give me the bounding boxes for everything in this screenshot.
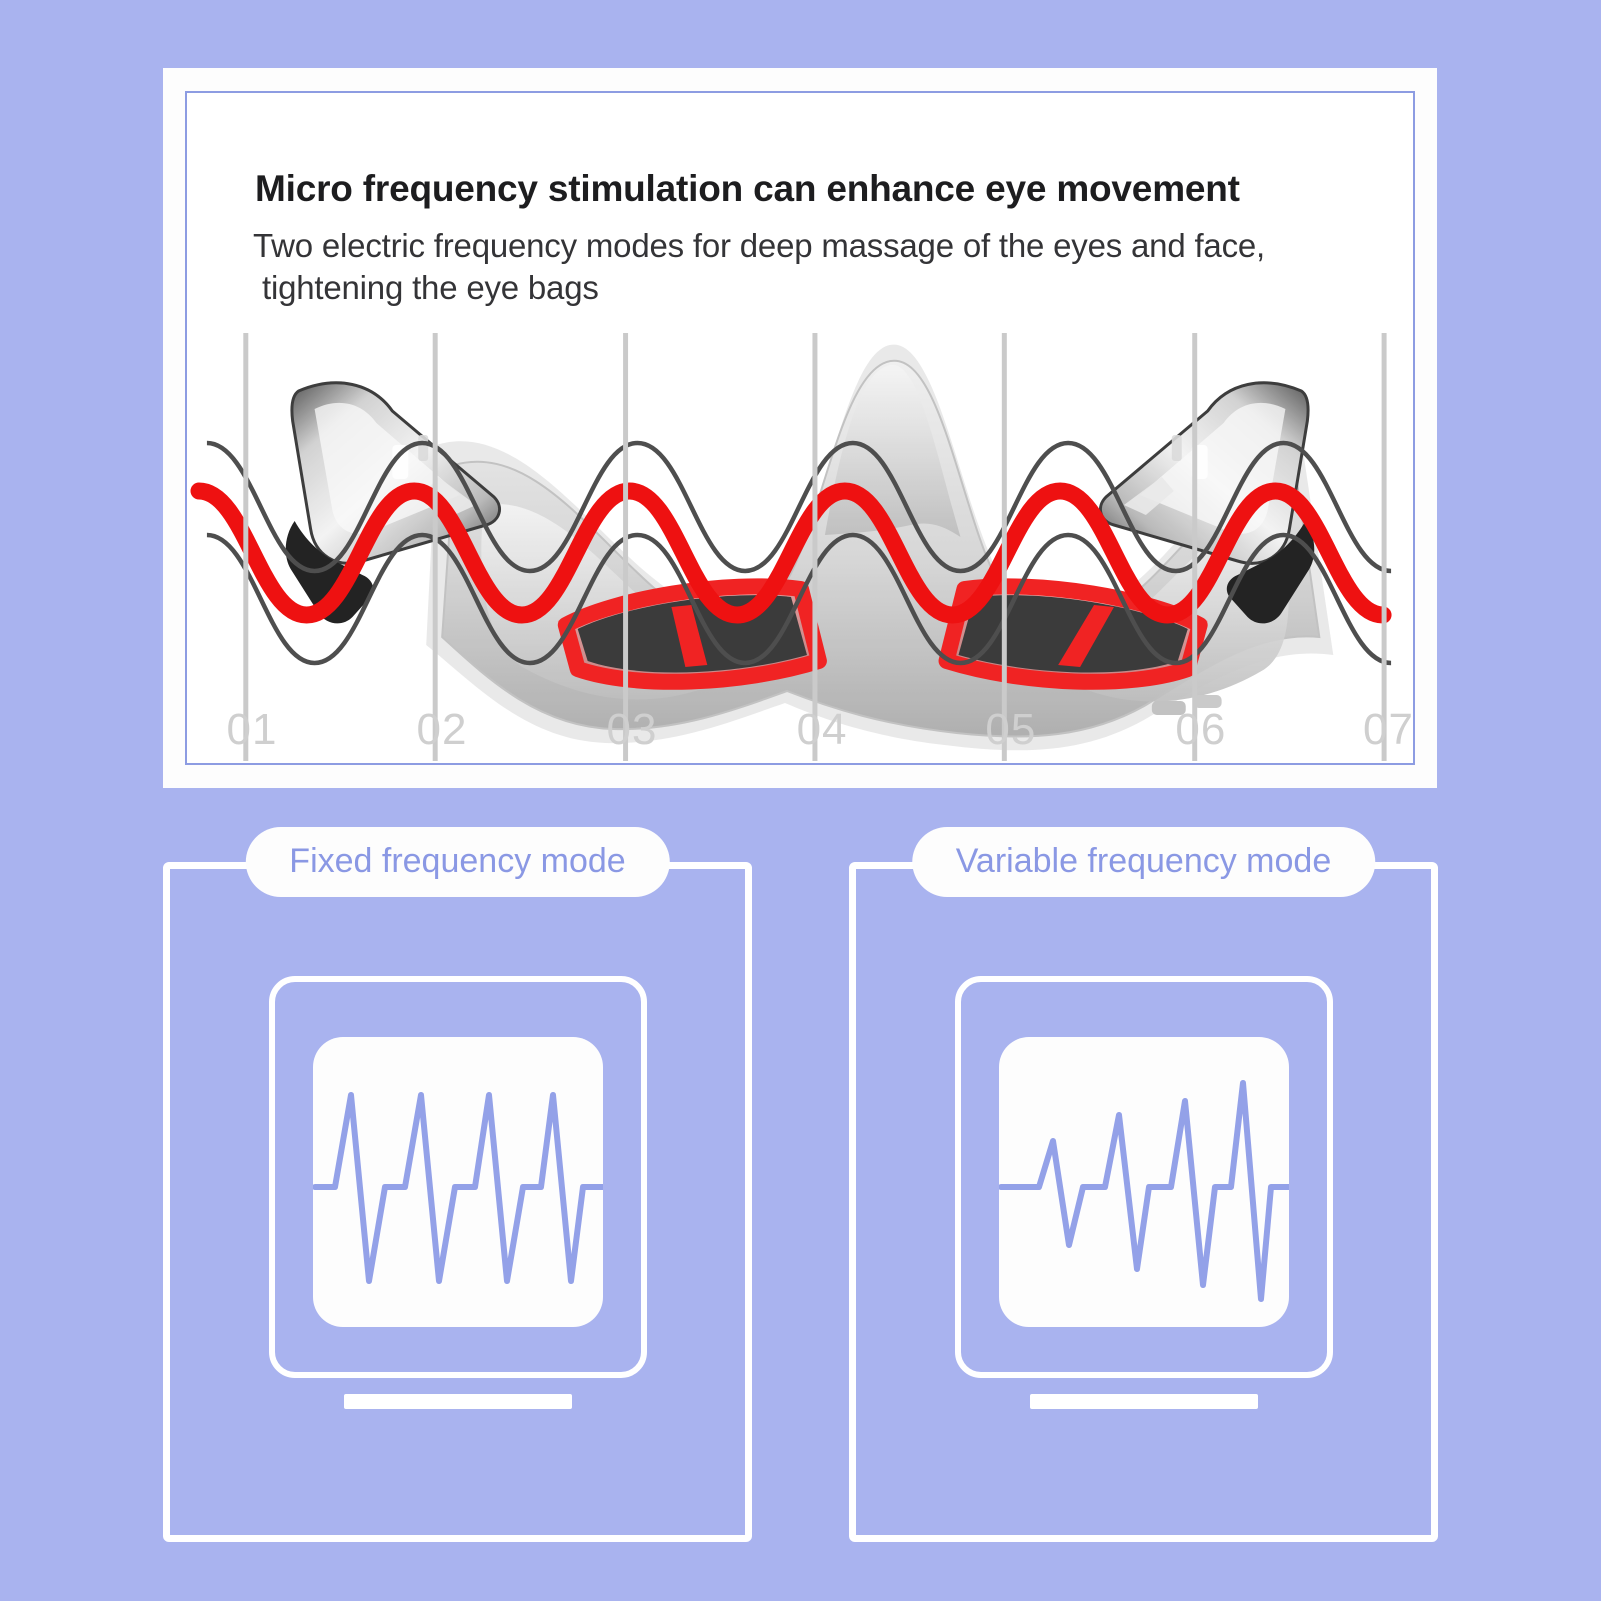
axis-label-07: 07 <box>1363 705 1414 755</box>
top-panel: Micro frequency stimulation can enhance … <box>163 68 1437 788</box>
axis-label-03: 03 <box>607 705 658 755</box>
underline-bar-fixed <box>344 1394 572 1409</box>
waveform-product-illustration <box>187 325 1413 765</box>
axis-labels: 01 02 03 04 05 06 07 <box>187 705 1413 765</box>
mode-label-fixed: Fixed frequency mode <box>245 827 669 897</box>
subtitle-line-2: tightening the eye bags <box>253 267 1413 309</box>
mode-card-fixed: Fixed frequency mode <box>163 862 752 1542</box>
subtitle-line-1: Two electric frequency modes for deep ma… <box>253 227 1265 264</box>
waveform-frame-variable <box>955 976 1333 1378</box>
axis-label-01: 01 <box>226 705 277 755</box>
page-subtitle: Two electric frequency modes for deep ma… <box>253 225 1413 309</box>
waveform-frame-fixed <box>269 976 647 1378</box>
underline-bar-variable <box>1030 1394 1258 1409</box>
page-title: Micro frequency stimulation can enhance … <box>255 168 1395 210</box>
waveform-icon-variable <box>999 1037 1289 1327</box>
waveform-icon-fixed <box>313 1037 603 1327</box>
top-panel-inner: Micro frequency stimulation can enhance … <box>185 91 1415 765</box>
axis-label-04: 04 <box>797 705 848 755</box>
mode-label-variable: Variable frequency mode <box>912 827 1375 897</box>
axis-label-05: 05 <box>985 705 1036 755</box>
axis-label-02: 02 <box>417 705 468 755</box>
axis-label-06: 06 <box>1175 705 1226 755</box>
mode-card-variable: Variable frequency mode <box>849 862 1438 1542</box>
